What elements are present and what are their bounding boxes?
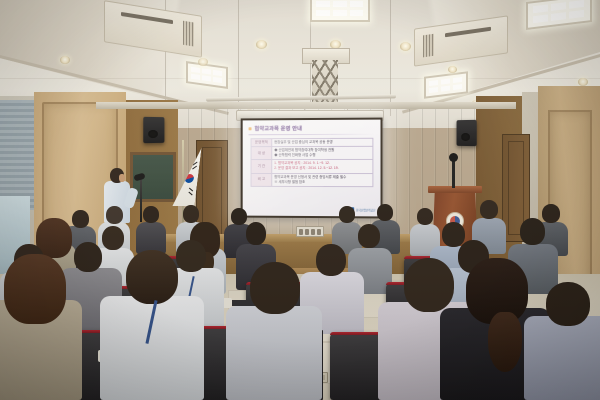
slide-table-row: 운영목적 현장실무 및 산업 중심의 교과목 공동 운영	[251, 138, 373, 146]
slide-title-row: 협약교과목 운영 안내	[249, 125, 375, 133]
slide-row-value: 현장실무 및 산업 중심의 교과목 공동 운영	[272, 138, 373, 146]
ceiling-seam	[390, 0, 391, 116]
slide-table-row: 기 간 1. 협약교과목 공지 : 2014. 9. 1.~9. 12. 2. …	[251, 160, 373, 173]
slide-content: 협약교과목 운영 안내 운영목적 현장실무 및 산업 중심의 교과목 공동 운영…	[243, 120, 381, 217]
slide-title-rule	[249, 134, 375, 136]
slide-row-value: 1. 협약교과목 공지 : 2014. 9. 1.~9. 12. 2. 운영 결…	[272, 160, 373, 173]
slide-table-row: 비 고 협약교과목 운영 신청서 및 관련 증빙서류 제출 필수 ※ 세부사항 …	[251, 173, 373, 186]
lectern-top	[428, 186, 482, 193]
slide-table: 운영목적 현장실무 및 산업 중심의 교과목 공동 운영 대 상 ◆ 산업체연계…	[251, 138, 374, 187]
projection-screen: 협약교과목 운영 안내 운영목적 현장실무 및 산업 중심의 교과목 공동 운영…	[241, 118, 383, 219]
microphone-stand	[140, 178, 142, 222]
slide-row-value: 협약교과목 운영 신청서 및 관련 증빙서류 제출 필수 ※ 세부사항 별첨 참…	[272, 173, 373, 186]
slide-logo-text: 한국산업인력공단	[356, 208, 375, 212]
downlight	[400, 42, 411, 51]
slide-title: 협약교과목 운영 안내	[254, 125, 302, 132]
slide-row-label: 기 간	[251, 160, 272, 173]
wall-speaker-left	[143, 117, 164, 143]
downlight	[60, 56, 70, 64]
slide-value-line: 2. 운영 결과 보고 공지 : 2014. 12. 5.~12. 19.	[274, 166, 370, 171]
slide-row-value: ◆ 산업체연계 협약참여대학 참여학생 전원 ◆ 산학협력 친화형 사업 수행	[272, 146, 373, 159]
light-panel-front-center	[310, 0, 370, 22]
slide-row-label: 운영목적	[251, 139, 272, 147]
slide-value-line: ◆ 산학협력 친화형 사업 수행	[274, 153, 370, 158]
downlight	[256, 40, 267, 49]
presenter-face	[119, 174, 125, 182]
downlight	[578, 78, 588, 86]
downlight	[198, 58, 208, 66]
seminar-room-photo: 협약교과목 운영 안내 운영목적 현장실무 및 산업 중심의 교과목 공동 운영…	[0, 0, 600, 400]
bullet-square-icon	[249, 127, 252, 130]
lectern-microphone	[452, 160, 455, 188]
slide-value-line: ※ 세부사항 별첨 참조	[274, 180, 370, 185]
slide-row-label: 비 고	[251, 173, 272, 186]
wall-outlet-panel[interactable]	[296, 226, 324, 237]
slide-row-label: 대 상	[251, 147, 272, 160]
front-wall-crown-molding	[96, 102, 516, 109]
slide-table-row: 대 상 ◆ 산업체연계 협약참여대학 참여학생 전원 ◆ 산학협력 친화형 사업…	[251, 146, 373, 159]
window-blinds	[0, 100, 34, 210]
downlight	[448, 66, 457, 73]
door-panel	[508, 141, 524, 235]
wall-speaker-right	[457, 120, 477, 146]
